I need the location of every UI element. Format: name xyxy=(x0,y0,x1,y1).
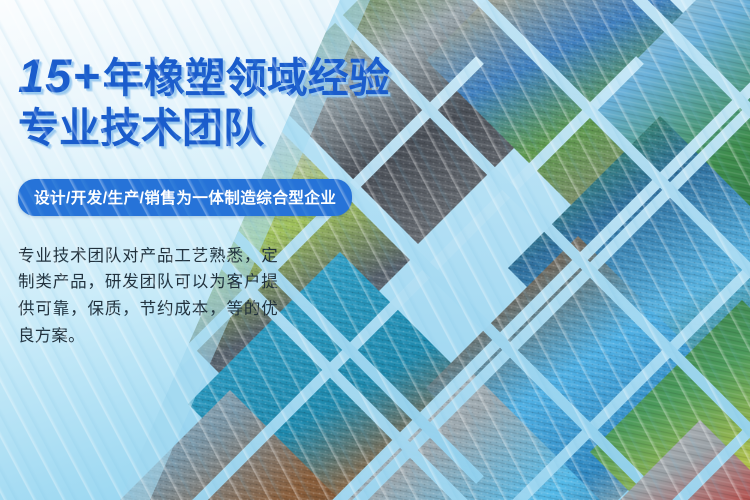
tagline-pill: 设计/开发/生产/销售为一体制造综合型企业 xyxy=(18,179,352,216)
years-number: 15+ xyxy=(18,49,103,102)
promo-banner: 15+年橡塑领域经验 专业技术团队 设计/开发/生产/销售为一体制造综合型企业 … xyxy=(0,0,750,500)
body-paragraph: 专业技术团队对产品工艺熟悉，定制类产品，研发团队可以为客户提供可靠，保质，节约成… xyxy=(18,243,278,350)
text-panel: 15+年橡塑领域经验 专业技术团队 设计/开发/生产/销售为一体制造综合型企业 … xyxy=(0,0,330,500)
headline-line-1: 15+年橡塑领域经验 xyxy=(18,52,390,99)
headline-line-1-rest: 年橡塑领域经验 xyxy=(103,55,390,101)
headline-line-2: 专业技术团队 xyxy=(18,108,390,149)
headline-block: 15+年橡塑领域经验 专业技术团队 xyxy=(18,52,390,149)
